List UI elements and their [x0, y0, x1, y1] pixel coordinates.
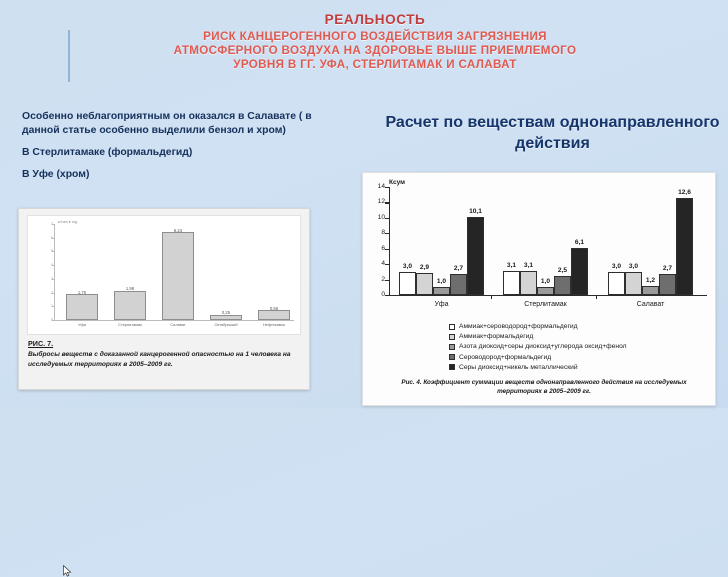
left-chart-y-tick-mark	[52, 279, 55, 280]
left-figure-caption: РИС. 7. Выбросы веществ с доказанной кан…	[28, 339, 301, 369]
left-text-paragraph: В Стерлитамаке (формальдегид)	[22, 146, 332, 160]
left-chart-y-tick-mark	[52, 238, 55, 239]
right-chart-bar	[537, 287, 554, 295]
right-chart-bar-group: 3,02,91,02,710,1	[399, 187, 484, 295]
slide-canvas: РЕАЛЬНОСТЬ РИСК КАНЦЕРОГЕННОГО ВОЗДЕЙСТВ…	[0, 0, 728, 408]
left-chart-category-label: Салават	[152, 322, 204, 327]
left-chart-y-tick-mark	[52, 224, 55, 225]
left-chart-bar: 6,24	[158, 224, 198, 320]
right-chart-bar	[467, 217, 484, 295]
right-chart-category-label: Уфа	[397, 301, 487, 308]
right-chart-category-label: Стерлитамак	[501, 301, 591, 308]
right-bar-chart: Ксум 02468101214 3,02,91,02,710,1Уфа3,13…	[363, 173, 715, 323]
left-chart-bar-value: 1,75	[62, 290, 102, 295]
left-chart-bar-value: 0,56	[254, 306, 294, 311]
right-chart-bar	[642, 286, 659, 295]
right-chart-y-tick-label: 4	[371, 260, 385, 267]
right-chart-bar	[433, 287, 450, 295]
right-chart-bar	[554, 276, 571, 295]
left-chart-category-label: Уфа	[56, 322, 108, 327]
right-chart-y-tick-label: 14	[371, 183, 385, 190]
right-chart-bar-value: 3,0	[621, 263, 647, 270]
legend-swatch-icon	[449, 324, 455, 330]
right-chart-bar-group: 3,13,11,02,56,1	[503, 187, 588, 295]
right-chart-bar	[659, 274, 676, 295]
left-chart-bar-value: 6,24	[158, 228, 198, 233]
left-chart-y-tick-mark	[52, 265, 55, 266]
page-title: РЕАЛЬНОСТЬ	[150, 12, 600, 27]
right-chart-y-tick-label: 6	[371, 245, 385, 252]
right-chart-group-separator	[596, 295, 597, 299]
left-chart-bar: 1,75	[62, 224, 102, 320]
right-chart-bar	[399, 272, 416, 295]
left-chart-bar: 1,98	[110, 224, 150, 320]
left-chart-y-tick-mark	[52, 293, 55, 294]
right-chart-y-axis	[389, 187, 390, 295]
legend-swatch-icon	[449, 364, 455, 370]
right-chart-y-tick-label: 10	[371, 214, 385, 221]
right-chart-y-tick-label: 8	[371, 229, 385, 236]
left-chart-y-tick-mark	[52, 251, 55, 252]
left-chart-bar-rect	[66, 294, 98, 320]
left-chart-bar-rect	[210, 315, 242, 320]
right-figure-caption: Рис. 4. Коэффициент суммации веществ одн…	[383, 379, 705, 396]
right-chart-bar	[608, 272, 625, 295]
right-chart-y-tick-label: 12	[371, 198, 385, 205]
right-chart-bar-group: 3,03,01,22,712,6	[608, 187, 693, 295]
right-chart-y-tick-mark	[385, 295, 389, 296]
right-chart-y-axis-title: Ксум	[389, 179, 405, 186]
right-chart-legend: Аммиак+сероводород+формальдегидАммиак+фо…	[449, 323, 714, 374]
left-chart-bar-value: 1,98	[110, 286, 150, 291]
legend-item: Аммиак+сероводород+формальдегид	[449, 323, 714, 330]
right-chart-y-tick-mark	[385, 249, 389, 250]
right-chart-y-tick-label: 0	[371, 291, 385, 298]
right-chart-y-tick-label: 2	[371, 276, 385, 283]
title-block: РЕАЛЬНОСТЬ РИСК КАНЦЕРОГЕННОГО ВОЗДЕЙСТВ…	[150, 12, 600, 72]
left-chart-y-tick-mark	[52, 306, 55, 307]
legend-item: Серы диоксид+никель металлический	[449, 364, 714, 371]
decorative-accent-bar	[68, 30, 70, 82]
left-chart-x-axis	[54, 320, 294, 321]
right-chart-x-axis	[389, 295, 707, 296]
left-figure-caption-text: Выбросы веществ с доказанной канцерогенн…	[28, 351, 291, 368]
legend-item-label: Азота диоксид+серы диоксид+углерода окси…	[459, 343, 627, 350]
left-bar-chart: кг/чел в год 01234567 1,75Уфа1,98Стерлит…	[27, 215, 301, 335]
left-text-paragraph: Особенно неблагоприятным он оказался в С…	[22, 110, 332, 138]
left-figure-card: кг/чел в год 01234567 1,75Уфа1,98Стерлит…	[18, 208, 310, 390]
right-chart-y-tick-mark	[385, 264, 389, 265]
left-chart-y-tick-mark	[52, 320, 55, 321]
legend-item: Азота диоксид+серы диоксид+углерода окси…	[449, 343, 714, 350]
legend-swatch-icon	[449, 344, 455, 350]
legend-item-label: Аммиак+формальдегид	[459, 333, 533, 340]
right-chart-y-tick-mark	[385, 202, 389, 203]
left-chart-bar-value: 0,25	[206, 310, 246, 315]
right-chart-bar-value: 2,9	[412, 264, 438, 271]
right-chart-bar-value: 12,6	[672, 189, 698, 196]
right-chart-y-tick-mark	[385, 280, 389, 281]
legend-item-label: Сероводород+формальдегид	[459, 354, 551, 361]
left-chart-category-label: Стерлитамак	[104, 322, 156, 327]
right-chart-y-tick-mark	[385, 187, 389, 188]
right-chart-bar-value: 6,1	[567, 239, 593, 246]
right-figure-card: Ксум 02468101214 3,02,91,02,710,1Уфа3,13…	[362, 172, 716, 406]
right-chart-group-separator	[491, 295, 492, 299]
left-chart-bar: 0,56	[254, 224, 294, 320]
left-text-paragraph: В Уфе (хром)	[22, 168, 332, 182]
right-chart-bar	[503, 271, 520, 295]
right-chart-bar	[450, 274, 467, 295]
right-chart-y-tick-mark	[385, 233, 389, 234]
left-chart-bar: 0,25	[206, 224, 246, 320]
legend-item: Аммиак+формальдегид	[449, 333, 714, 340]
left-chart-bar-rect	[114, 291, 146, 320]
left-chart-bar-rect	[162, 232, 194, 320]
right-chart-bar	[571, 248, 588, 295]
right-chart-bar-value: 10,1	[463, 208, 489, 215]
left-chart-bar-rect	[258, 310, 290, 320]
legend-item-label: Аммиак+сероводород+формальдегид	[459, 323, 578, 330]
legend-item-label: Серы диоксид+никель металлический	[459, 364, 578, 371]
legend-swatch-icon	[449, 334, 455, 340]
left-figure-number: РИС. 7.	[28, 339, 301, 349]
mouse-cursor-icon	[63, 565, 72, 577]
right-chart-category-label: Салават	[606, 301, 696, 308]
left-chart-category-label: Нефтекамск	[248, 322, 300, 327]
right-section-title: Расчет по веществам однонаправленного де…	[385, 112, 720, 154]
legend-swatch-icon	[449, 354, 455, 360]
page-subtitle: РИСК КАНЦЕРОГЕННОГО ВОЗДЕЙСТВИЯ ЗАГРЯЗНЕ…	[150, 30, 600, 72]
left-chart-category-label: Октябрьский	[200, 322, 252, 327]
right-chart-bar	[676, 198, 693, 295]
legend-item: Сероводород+формальдегид	[449, 354, 714, 361]
left-text-block: Особенно неблагоприятным он оказался в С…	[22, 110, 332, 182]
right-chart-bar-value: 3,1	[516, 262, 542, 269]
right-chart-y-tick-mark	[385, 218, 389, 219]
